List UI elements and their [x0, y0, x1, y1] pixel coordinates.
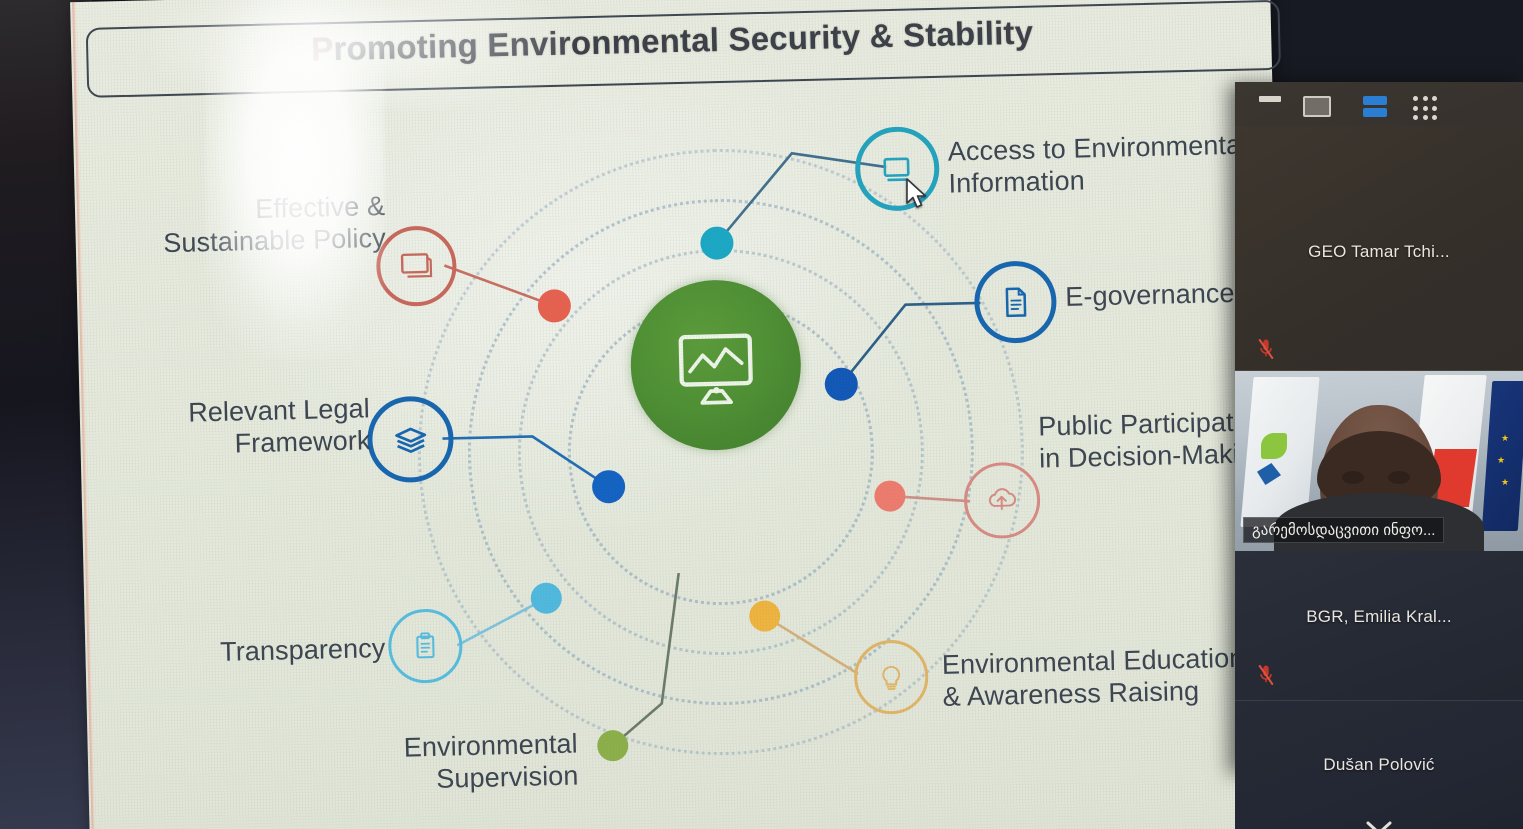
- node-label-transparency: Transparency: [105, 633, 386, 671]
- participant-tile-3[interactable]: BGR, Emilia Kral...: [1235, 551, 1523, 701]
- node-icon-effective-sustainable-policy[interactable]: [375, 225, 457, 307]
- layers-icon: [389, 418, 433, 462]
- node-label-relevant-legal-framework: Relevant Legal Framework: [99, 393, 370, 463]
- participant-tile-2-video[interactable]: ★ ★ ★ გარემოსდაცვითი ინფო...: [1235, 371, 1523, 551]
- clipboard-icon: [406, 627, 445, 666]
- screenshot-stage: Promoting Environmental Security & Stabi…: [0, 0, 1523, 829]
- participant-tile-4[interactable]: Dušan Polović: [1235, 701, 1523, 829]
- node-icon-environmental-education[interactable]: [853, 639, 929, 715]
- participant-name: BGR, Emilia Kral...: [1235, 607, 1523, 627]
- label-line-2: Supervision: [278, 760, 579, 799]
- flag-eu-stars: ★: [1501, 433, 1509, 441]
- closed-caption: გარემოსდაცვითი ინფო...: [1243, 517, 1444, 543]
- flag-left-emblem: [1261, 433, 1287, 459]
- node-dot-environmental-supervision: [597, 730, 629, 762]
- environmental-governance-diagram: Effective & Sustainable Policy Access to…: [70, 0, 1290, 829]
- video-conference-panel: GEO Tamar Tchi... ★ ★ ★: [1235, 82, 1523, 772]
- speaker-eye-left: [1342, 471, 1364, 484]
- document-icon: [995, 281, 1036, 322]
- label-line-2: Sustainable Policy: [85, 223, 386, 262]
- speaker-eye-right: [1388, 471, 1410, 484]
- participant-name: GEO Tamar Tchi...: [1235, 242, 1523, 262]
- monitor-icon: [396, 246, 437, 287]
- flag-eu-stars-2: ★: [1497, 455, 1505, 463]
- monitor-chart-icon: [669, 318, 763, 412]
- minimize-icon[interactable]: [1259, 96, 1281, 102]
- cloud-upload-icon: [982, 480, 1022, 520]
- node-icon-public-participation[interactable]: [963, 462, 1041, 540]
- participant-name: Dušan Polović: [1235, 755, 1523, 775]
- node-icon-e-governance[interactable]: [973, 260, 1057, 344]
- participant-tile-1[interactable]: GEO Tamar Tchi...: [1235, 126, 1523, 371]
- node-label-environmental-supervision: Environmental Supervision: [277, 729, 578, 800]
- label-line-2: & Awareness Raising: [942, 674, 1283, 714]
- window-icon[interactable]: [1303, 96, 1331, 117]
- mic-muted-icon: [1257, 339, 1275, 359]
- lightbulb-icon: [872, 658, 911, 697]
- label-line-2: Framework: [100, 425, 371, 463]
- mic-muted-icon: [1257, 665, 1275, 685]
- flag-eu-stars-3: ★: [1501, 477, 1509, 485]
- node-label-environmental-education: Environmental Education & Awareness Rais…: [942, 642, 1283, 714]
- node-label-effective-sustainable-policy: Effective & Sustainable Policy: [85, 191, 386, 262]
- node-icon-transparency[interactable]: [387, 608, 463, 684]
- chevron-down-icon[interactable]: [1364, 819, 1394, 829]
- grid-view-icon[interactable]: [1413, 96, 1439, 122]
- node-label-access-to-environmental-information: Access to Environmental Information: [947, 129, 1278, 200]
- mouse-pointer-icon: [905, 178, 931, 212]
- label-line-1: Transparency: [105, 633, 386, 671]
- video-panel-toolbar: [1235, 82, 1523, 126]
- projected-slide: Promoting Environmental Security & Stabi…: [70, 0, 1290, 829]
- split-view-icon[interactable]: [1363, 96, 1387, 118]
- label-line-2: Information: [948, 161, 1279, 201]
